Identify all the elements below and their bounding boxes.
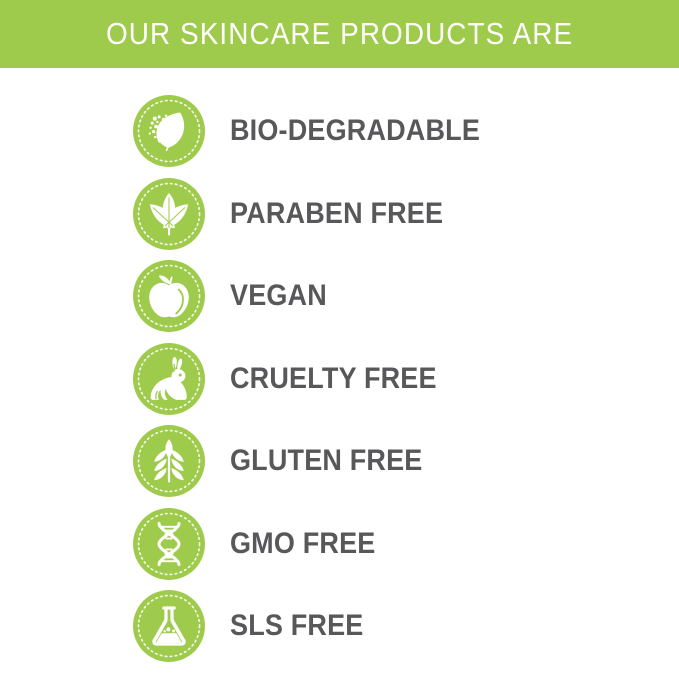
- page-title: OUR SKINCARE PRODUCTS ARE: [106, 18, 573, 50]
- claim-row-paraben-free: PARABEN FREE: [133, 178, 653, 250]
- apple-icon: [133, 260, 205, 332]
- claims-list: BIO-DEGRADABLE: [0, 68, 679, 679]
- claim-row-cruelty-free: CRUELTY FREE: [133, 343, 653, 415]
- claim-row-gluten-free: GLUTEN FREE: [133, 425, 653, 497]
- rabbit-icon: [133, 343, 205, 415]
- claim-row-vegan: VEGAN: [133, 260, 653, 332]
- skincare-claims-infographic: OUR SKINCARE PRODUCTS ARE: [0, 0, 679, 679]
- claim-label: VEGAN: [230, 281, 327, 311]
- dna-helix-icon: [133, 508, 205, 580]
- flask-icon: [133, 590, 205, 662]
- claim-row-gmo-free: GMO FREE: [133, 508, 653, 580]
- claim-label: PARABEN FREE: [230, 199, 443, 229]
- leaf-branch-icon: [133, 178, 205, 250]
- claim-label: CRUELTY FREE: [230, 364, 437, 394]
- claim-row-sls-free: SLS FREE: [133, 590, 653, 662]
- claim-row-bio-degradable: BIO-DEGRADABLE: [133, 95, 653, 167]
- claim-label: GMO FREE: [230, 529, 375, 559]
- dissolving-leaf-icon: [133, 95, 205, 167]
- wheat-icon: [133, 425, 205, 497]
- claim-label: GLUTEN FREE: [230, 446, 422, 476]
- header-banner: OUR SKINCARE PRODUCTS ARE: [0, 0, 679, 68]
- claim-label: SLS FREE: [230, 611, 363, 641]
- claim-label: BIO-DEGRADABLE: [230, 116, 480, 146]
